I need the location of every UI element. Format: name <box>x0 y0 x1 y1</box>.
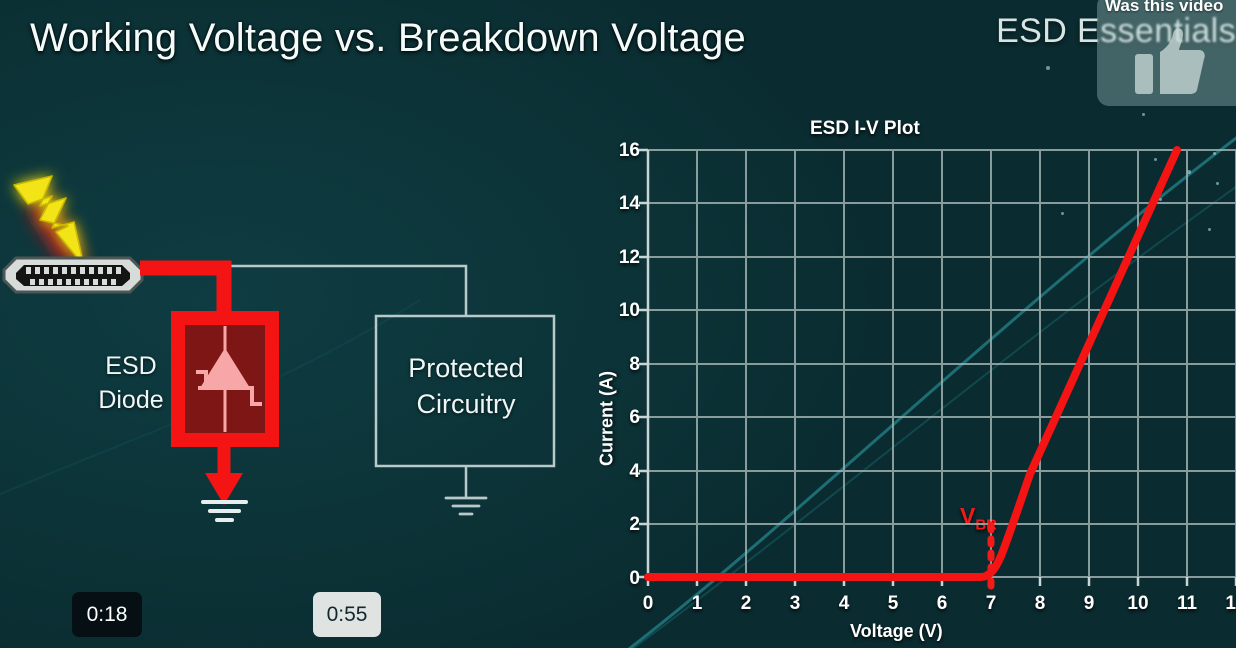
esd-iv-chart: ESD I-V Plot Current (A) Voltage (V) 16 … <box>575 108 1236 648</box>
esd-diode-label-line1: ESD <box>88 350 174 384</box>
ground-symbol <box>203 502 246 520</box>
esd-diode-label: ESD Diode <box>88 350 174 418</box>
esd-diode-label-line2: Diode <box>88 384 174 418</box>
surge-current-path <box>140 268 224 318</box>
chart-plot-area <box>575 108 1236 648</box>
ground-symbol <box>446 498 486 514</box>
protected-circuitry-label-line2: Circuitry <box>378 386 554 422</box>
feedback-overlay[interactable]: Was this video <box>1097 0 1236 106</box>
protected-circuitry-label-line1: Protected <box>378 350 554 386</box>
lightning-bolt-icon <box>14 176 84 266</box>
protected-circuitry-label: Protected Circuitry <box>378 350 554 423</box>
timestamp-badge-start[interactable]: 0:18 <box>72 592 142 637</box>
hdmi-connector-icon <box>4 258 142 292</box>
circuit-diagram: ESD Diode Protected Circuitry <box>0 140 600 560</box>
page-title: Working Voltage vs. Breakdown Voltage <box>30 16 746 61</box>
video-frame: Working Voltage vs. Breakdown Voltage ES… <box>0 0 1236 648</box>
feedback-question-label: Was this video <box>1105 0 1223 16</box>
sparkle <box>1046 66 1050 70</box>
timestamp-badge-end[interactable]: 0:55 <box>313 592 381 637</box>
thumbs-up-icon[interactable] <box>1133 26 1207 96</box>
